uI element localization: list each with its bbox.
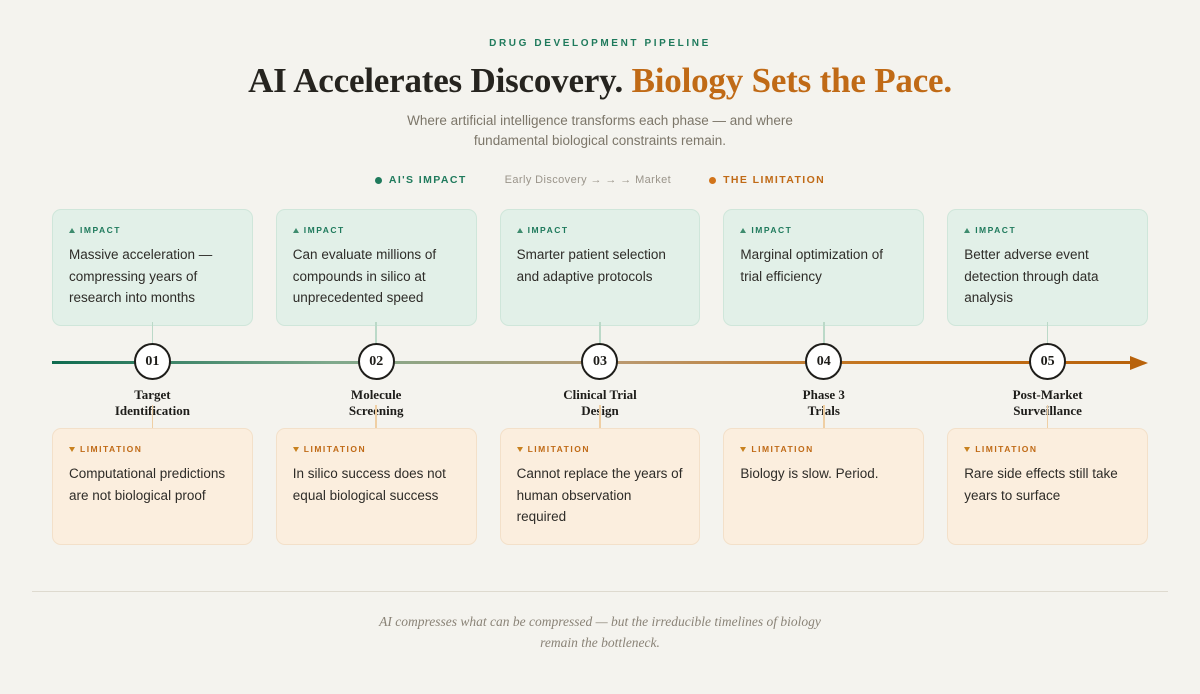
subtitle: Where artificial intelligence transforms… bbox=[385, 111, 815, 153]
phase-label-line-1: Phase 3 bbox=[723, 387, 924, 402]
triangle-down-icon bbox=[740, 447, 746, 452]
limitation-card[interactable]: LIMITATION Rare side effects still take … bbox=[947, 428, 1148, 544]
impact-card[interactable]: IMPACT Can evaluate millions of compound… bbox=[276, 209, 477, 325]
limitation-text: In silico success does not equal biologi… bbox=[293, 463, 460, 506]
subtitle-line-1: Where artificial intelligence transforms… bbox=[407, 113, 793, 128]
orange-dot-icon bbox=[709, 177, 716, 184]
impact-tag-label: IMPACT bbox=[80, 225, 121, 235]
legend: AI'S IMPACT Early Discovery → → → Market… bbox=[0, 174, 1200, 186]
connector-line-top bbox=[1047, 322, 1049, 345]
eyebrow-label: DRUG DEVELOPMENT PIPELINE bbox=[0, 38, 1200, 49]
phase-label: Post-Market Surveillance bbox=[947, 387, 1148, 418]
impact-tag: IMPACT bbox=[740, 225, 907, 235]
impact-tag: IMPACT bbox=[293, 225, 460, 235]
legend-impact-label: AI'S IMPACT bbox=[389, 174, 467, 186]
triangle-down-icon bbox=[964, 447, 970, 452]
limitation-text: Rare side effects still take years to su… bbox=[964, 463, 1131, 506]
limitation-card[interactable]: LIMITATION Biology is slow. Period. bbox=[723, 428, 924, 544]
phase-label-line-1: Molecule bbox=[276, 387, 477, 402]
timeline-node[interactable]: 02 bbox=[358, 343, 395, 380]
impact-card[interactable]: IMPACT Marginal optimization of trial ef… bbox=[723, 209, 924, 325]
limitation-card[interactable]: LIMITATION Cannot replace the years of h… bbox=[500, 428, 701, 544]
limitation-tag-label: LIMITATION bbox=[80, 444, 142, 454]
title-main: AI Accelerates Discovery. bbox=[248, 61, 623, 100]
triangle-up-icon bbox=[740, 228, 746, 233]
impact-tag: IMPACT bbox=[69, 225, 236, 235]
limitation-tag: LIMITATION bbox=[740, 444, 907, 454]
timeline-board: IMPACT Massive acceleration — compressin… bbox=[0, 209, 1200, 549]
title-accent: Biology Sets the Pace. bbox=[632, 61, 952, 100]
impact-text: Better adverse event detection through d… bbox=[964, 244, 1131, 308]
footnote-line-2: remain the bottleneck. bbox=[0, 633, 1200, 654]
limitation-tag: LIMITATION bbox=[69, 444, 236, 454]
impact-tag-label: IMPACT bbox=[304, 225, 345, 235]
connector-line-top bbox=[823, 322, 825, 345]
phase-label: Target Identification bbox=[52, 387, 253, 418]
connector-line-bottom bbox=[152, 405, 154, 428]
limitation-tag-label: LIMITATION bbox=[975, 444, 1037, 454]
arrow-right-icon bbox=[1130, 356, 1148, 370]
impact-text: Smarter patient selection and adaptive p… bbox=[517, 244, 684, 287]
connector-line-bottom bbox=[599, 405, 601, 428]
limitation-text: Computational predictions are not biolog… bbox=[69, 463, 236, 506]
triangle-down-icon bbox=[293, 447, 299, 452]
timeline-node[interactable]: 01 bbox=[134, 343, 171, 380]
phase-label-line-2: Trials bbox=[723, 403, 924, 418]
subtitle-line-2: fundamental biological constraints remai… bbox=[474, 133, 726, 148]
limitation-tag-label: LIMITATION bbox=[751, 444, 813, 454]
impact-card[interactable]: IMPACT Smarter patient selection and ada… bbox=[500, 209, 701, 325]
impact-text: Can evaluate millions of compounds in si… bbox=[293, 244, 460, 308]
limitation-text: Cannot replace the years of human observ… bbox=[517, 463, 684, 527]
phase-label: Clinical Trial Design bbox=[500, 387, 701, 418]
limitation-tag-label: LIMITATION bbox=[304, 444, 366, 454]
impact-tag-label: IMPACT bbox=[751, 225, 792, 235]
page-title: AI Accelerates Discovery. Biology Sets t… bbox=[0, 62, 1200, 101]
triangle-up-icon bbox=[964, 228, 970, 233]
connector-line-top bbox=[375, 322, 377, 345]
phase-label-line-2: Identification bbox=[52, 403, 253, 418]
connector-line-bottom bbox=[1047, 405, 1049, 428]
impact-card[interactable]: IMPACT Massive acceleration — compressin… bbox=[52, 209, 253, 325]
footnote-line-1: AI compresses what can be compressed — b… bbox=[0, 612, 1200, 633]
footer-divider bbox=[32, 591, 1168, 592]
limitation-text: Biology is slow. Period. bbox=[740, 463, 907, 484]
limitation-tag: LIMITATION bbox=[293, 444, 460, 454]
impact-card-row: IMPACT Massive acceleration — compressin… bbox=[52, 209, 1148, 325]
triangle-up-icon bbox=[69, 228, 75, 233]
infographic-page: DRUG DEVELOPMENT PIPELINE AI Accelerates… bbox=[0, 0, 1200, 694]
connector-line-bottom bbox=[375, 405, 377, 428]
phase-label-line-1: Post-Market bbox=[947, 387, 1148, 402]
phase-label-line-1: Clinical Trial bbox=[500, 387, 701, 402]
triangle-up-icon bbox=[517, 228, 523, 233]
limitation-tag: LIMITATION bbox=[964, 444, 1131, 454]
limitation-tag: LIMITATION bbox=[517, 444, 684, 454]
connector-line-bottom bbox=[823, 405, 825, 428]
triangle-down-icon bbox=[517, 447, 523, 452]
connector-line-top bbox=[599, 322, 601, 345]
limitation-card-row: LIMITATION Computational predictions are… bbox=[52, 428, 1148, 544]
legend-item-limitation: THE LIMITATION bbox=[709, 174, 825, 186]
legend-limitation-label: THE LIMITATION bbox=[723, 174, 825, 186]
phase-label: Phase 3 Trials bbox=[723, 387, 924, 418]
impact-tag: IMPACT bbox=[517, 225, 684, 235]
limitation-card[interactable]: LIMITATION Computational predictions are… bbox=[52, 428, 253, 544]
triangle-down-icon bbox=[69, 447, 75, 452]
phase-label: Molecule Screening bbox=[276, 387, 477, 418]
limitation-card[interactable]: LIMITATION In silico success does not eq… bbox=[276, 428, 477, 544]
impact-text: Marginal optimization of trial efficienc… bbox=[740, 244, 907, 287]
triangle-up-icon bbox=[293, 228, 299, 233]
impact-tag-label: IMPACT bbox=[975, 225, 1016, 235]
timeline-node[interactable]: 05 bbox=[1029, 343, 1066, 380]
legend-direction-label: Early Discovery → → → Market bbox=[505, 174, 671, 186]
impact-tag-label: IMPACT bbox=[528, 225, 569, 235]
header: DRUG DEVELOPMENT PIPELINE AI Accelerates… bbox=[0, 0, 1200, 186]
timeline-node[interactable]: 04 bbox=[805, 343, 842, 380]
phase-label-line-2: Surveillance bbox=[947, 403, 1148, 418]
phase-label-line-2: Design bbox=[500, 403, 701, 418]
green-dot-icon bbox=[375, 177, 382, 184]
footnote: AI compresses what can be compressed — b… bbox=[0, 612, 1200, 654]
impact-text: Massive acceleration — compressing years… bbox=[69, 244, 236, 308]
phase-label-line-2: Screening bbox=[276, 403, 477, 418]
impact-card[interactable]: IMPACT Better adverse event detection th… bbox=[947, 209, 1148, 325]
timeline-node[interactable]: 03 bbox=[581, 343, 618, 380]
connector-line-top bbox=[152, 322, 154, 345]
phase-label-line-1: Target bbox=[52, 387, 253, 402]
legend-item-impact: AI'S IMPACT bbox=[375, 174, 467, 186]
limitation-tag-label: LIMITATION bbox=[528, 444, 590, 454]
impact-tag: IMPACT bbox=[964, 225, 1131, 235]
